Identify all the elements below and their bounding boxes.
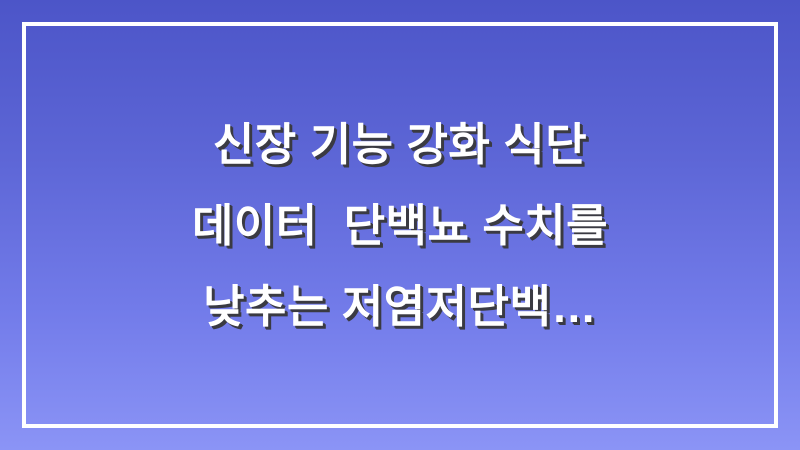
title-line-3: 낮추는 저염저단백… bbox=[203, 284, 597, 329]
title-line-2: 데이터 단백뇨 수치를 bbox=[192, 203, 608, 248]
thumbnail-card: 신장 기능 강화 식단 데이터 단백뇨 수치를 낮추는 저염저단백… bbox=[0, 0, 800, 450]
title-block: 신장 기능 강화 식단 데이터 단백뇨 수치를 낮추는 저염저단백… bbox=[0, 0, 800, 450]
title-line-1: 신장 기능 강화 식단 bbox=[213, 122, 587, 167]
